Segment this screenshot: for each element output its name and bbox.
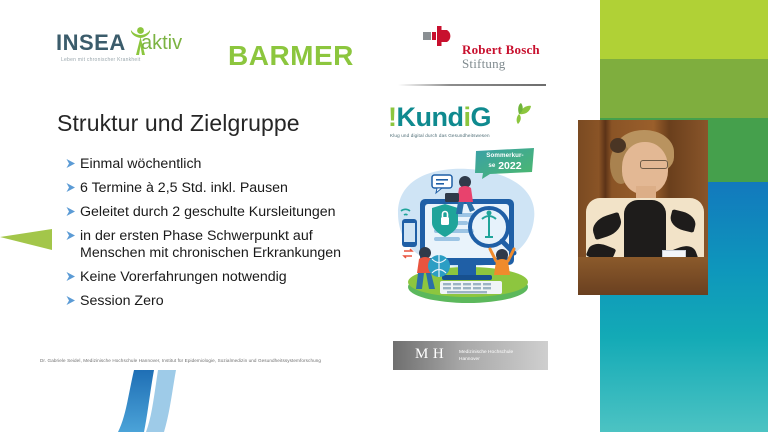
list-item-label: Keine Vorerfahrungen notwendig — [80, 269, 287, 286]
decorative-band-lime — [600, 0, 768, 59]
list-item-label: Geleitet durch 2 geschulte Kursleitungen — [80, 204, 336, 221]
mhh-subline1: Medizinische Hochschule — [459, 350, 513, 355]
barmer-logo: BARMER — [228, 40, 354, 72]
mhh-logo: M H Medizinische Hochschule Hannover — [393, 341, 548, 370]
bullet-list: Einmal wöchentlich 6 Termine à 2,5 Std. … — [62, 156, 392, 317]
slide-canvas: INSEA aktiv Leben mit chronischer Krankh… — [0, 0, 600, 432]
speaker-glasses — [640, 160, 668, 169]
kundig-wordmark: !KundiG — [388, 102, 491, 133]
chevron-right-icon — [62, 182, 80, 193]
list-item: Geleitet durch 2 geschulte Kursleitungen — [62, 204, 392, 221]
chevron-right-icon — [62, 158, 80, 169]
speaker-podium — [578, 257, 708, 295]
mhh-wordmark: M H — [415, 346, 444, 363]
list-item: Einmal wöchentlich — [62, 156, 392, 173]
insea-wordmark: INSEA — [56, 30, 126, 56]
decorative-green-wedge — [0, 228, 52, 262]
speaker-hair-clip — [610, 138, 626, 153]
list-item-label: Session Zero — [80, 293, 164, 310]
bosch-rb-mark-icon — [423, 26, 455, 46]
kundig-k: K — [397, 102, 416, 132]
kundig-leaf-icon — [506, 103, 532, 125]
kundig-und: und — [416, 102, 464, 132]
robert-bosch-stiftung-logo: Robert Bosch Stiftung — [420, 26, 560, 70]
badge-line2-prefix: se — [488, 162, 495, 169]
decorative-band-olive — [600, 59, 768, 118]
chevron-right-icon — [62, 206, 80, 217]
kundig-i: i — [463, 102, 470, 132]
sommerkurse-badge: Sommerkur- se 2022 — [474, 148, 536, 180]
chevron-right-icon — [62, 271, 80, 282]
kundig-g: G — [471, 102, 492, 132]
badge-line1: Sommerkur- — [474, 152, 536, 159]
list-item-label-line2: Menschen mit chronischen Erkrankungen — [80, 245, 341, 262]
insea-aktiv-logo: INSEA aktiv Leben mit chronischer Krankh… — [56, 28, 206, 70]
chevron-right-icon — [62, 230, 80, 241]
list-item-multiline: in der ersten Phase Schwerpunkt auf Mens… — [80, 228, 341, 262]
list-item-label: 6 Termine à 2,5 Std. inkl. Pausen — [80, 180, 288, 197]
mhh-subline2: Hannover — [459, 357, 480, 362]
bosch-subname: Stiftung — [462, 56, 506, 72]
list-item: 6 Termine à 2,5 Std. inkl. Pausen — [62, 180, 392, 197]
kundig-tagline: Klug und digital durch das Gesundheitswe… — [390, 133, 490, 138]
insea-aktiv-wordmark: aktiv — [141, 32, 182, 55]
list-item: in der ersten Phase Schwerpunkt auf Mens… — [62, 228, 392, 262]
page-title: Struktur und Zielgruppe — [57, 110, 300, 137]
footer-attribution: Dr. Gabriele Seidel, Medizinische Hochsc… — [40, 358, 321, 363]
presentation-slide-screenshot: INSEA aktiv Leben mit chronischer Krankh… — [0, 0, 768, 432]
insea-tagline: Leben mit chronischer Krankheit — [61, 57, 140, 63]
list-item: Keine Vorerfahrungen notwendig — [62, 269, 392, 286]
kundig-exclamation: ! — [388, 102, 397, 132]
chevron-right-icon — [62, 295, 80, 306]
list-item-label: Einmal wöchentlich — [80, 156, 201, 173]
speaker-video-overlay[interactable] — [578, 120, 708, 295]
list-item: Session Zero — [62, 293, 392, 310]
kundig-logo: !KundiG Klug und digital durch das Gesun… — [388, 102, 538, 144]
decorative-blue-swoosh — [92, 370, 204, 432]
badge-year: 2022 — [498, 160, 521, 172]
header-divider-rule — [398, 84, 546, 86]
badge-line2: se 2022 — [474, 160, 536, 172]
list-item-label-line1: in der ersten Phase Schwerpunkt auf — [80, 228, 313, 244]
